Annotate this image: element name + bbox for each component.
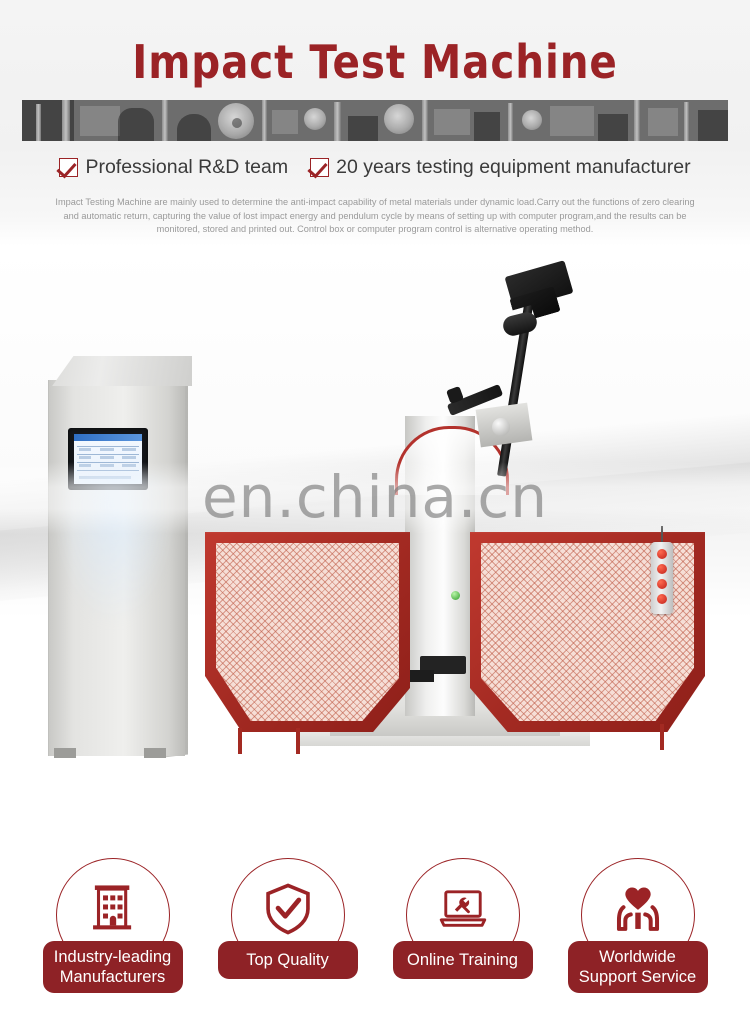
feature-label: 20 years testing equipment manufacturer — [336, 156, 690, 179]
badge-label: Industry-leading Manufacturers — [43, 941, 183, 993]
product-description: Impact Testing Machine are mainly used t… — [50, 196, 700, 237]
control-console-cabinet — [40, 356, 192, 756]
screen-title-bar — [74, 434, 142, 441]
pendant-button[interactable] — [657, 564, 667, 574]
badge-top-quality[interactable]: Top Quality — [215, 852, 361, 1002]
badge-worldwide-support-service[interactable]: Worldwide Support Service — [565, 852, 711, 1002]
guard-mesh-panel — [216, 543, 399, 721]
power-indicator-light — [451, 591, 460, 600]
badge-label: Online Training — [393, 941, 533, 979]
pivot-pin — [492, 418, 510, 436]
watermark-band — [0, 462, 750, 534]
badge-industry-leading-manufacturers[interactable]: Industry-leading Manufacturers — [40, 852, 186, 1002]
feature-highlights: Professional R&D team 20 years testing e… — [0, 150, 750, 184]
feature-item: Professional R&D team — [59, 156, 288, 179]
cabinet-foot — [54, 748, 76, 758]
specimen-anvil-support — [408, 670, 434, 682]
red-mesh-safety-guard-left — [205, 532, 410, 732]
pendant-button[interactable] — [657, 594, 667, 604]
heart-in-hands-icon — [609, 880, 667, 938]
page-title: Impact Test Machine — [45, 36, 705, 88]
checkbox-checked-icon — [59, 158, 78, 177]
hanging-pendant-control[interactable] — [651, 542, 673, 614]
pendant-button[interactable] — [657, 579, 667, 589]
badge-label: Worldwide Support Service — [568, 941, 708, 993]
laptop-wrench-icon — [434, 880, 492, 938]
pendant-button[interactable] — [657, 549, 667, 559]
building-icon — [84, 880, 142, 938]
product-detail-page: Impact Test Machine — [0, 0, 750, 1026]
feature-label: Professional R&D team — [85, 156, 288, 179]
cabinet-top — [40, 356, 192, 386]
trust-badges: Industry-leading Manufacturers Top Quali… — [0, 852, 750, 1026]
badge-online-training[interactable]: Online Training — [390, 852, 536, 1002]
product-photo: en.china.cn — [0, 246, 750, 846]
feature-item: 20 years testing equipment manufacturer — [310, 156, 690, 179]
factory-photo-strip — [22, 100, 728, 141]
badge-label: Top Quality — [218, 941, 358, 979]
shield-check-icon — [259, 880, 317, 938]
guard-leg — [238, 728, 242, 754]
guard-leg — [660, 724, 664, 750]
cabinet-foot — [144, 748, 166, 758]
page-header: Impact Test Machine — [0, 0, 750, 246]
checkbox-checked-icon — [310, 158, 329, 177]
guard-leg — [296, 728, 300, 754]
